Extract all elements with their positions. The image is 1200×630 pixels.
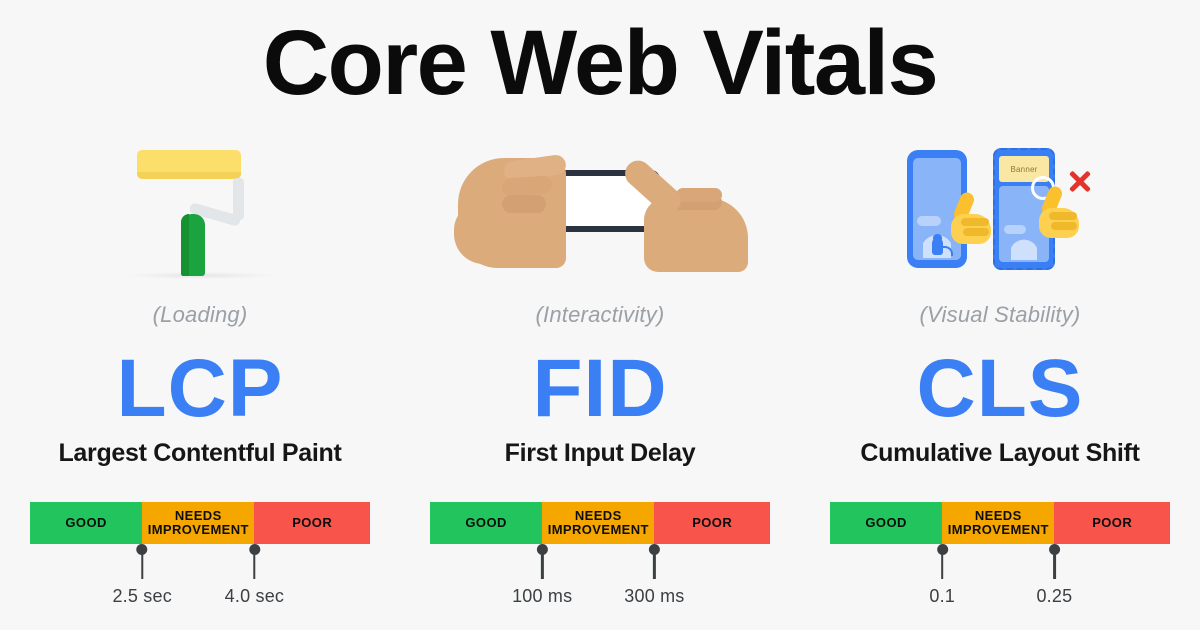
threshold-label: 100 ms	[512, 586, 572, 607]
scale-bar: GOOD NEEDS IMPROVEMENT POOR	[430, 502, 770, 544]
metric-acronym: LCP	[117, 346, 284, 432]
scale-segment-needs-improvement: NEEDS IMPROVEMENT	[142, 502, 254, 544]
threshold-stem	[541, 553, 544, 579]
paint-roller-icon	[35, 128, 365, 288]
threshold-stem	[253, 553, 256, 579]
left-finger	[502, 195, 546, 213]
threshold-marker: 100 ms	[512, 544, 572, 607]
threshold-marker: 0.25	[1036, 544, 1072, 607]
threshold-label: 2.5 sec	[112, 586, 171, 607]
scale-segment-poor: POOR	[1054, 502, 1170, 544]
layout-shift-phones-icon: Banner	[835, 128, 1165, 288]
core-web-vitals-infographic: Core Web Vitals (Loading) LCP Largest Co…	[0, 0, 1200, 630]
threshold-scale-fid: GOOD NEEDS IMPROVEMENT POOR 100 ms 300 m…	[430, 502, 770, 610]
right-knuckle	[676, 188, 722, 202]
hand-knuckle	[1049, 212, 1077, 220]
roller-arm	[233, 178, 244, 220]
scale-bar: GOOD NEEDS IMPROVEMENT POOR	[30, 502, 370, 544]
threshold-marker: 300 ms	[624, 544, 684, 607]
hand-knuckle	[963, 228, 989, 236]
threshold-label: 4.0 sec	[225, 586, 284, 607]
scale-segment-needs-improvement: NEEDS IMPROVEMENT	[542, 502, 654, 544]
metric-acronym: CLS	[917, 346, 1084, 432]
metric-sublabel: (Visual Stability)	[920, 302, 1081, 328]
metric-acronym: FID	[532, 346, 667, 432]
threshold-label: 0.1	[929, 586, 955, 607]
scale-ticks: 0.1 0.25	[830, 544, 1170, 610]
roller-head-shade	[137, 172, 241, 179]
scale-segment-good: GOOD	[430, 502, 542, 544]
scale-segment-poor: POOR	[254, 502, 370, 544]
red-x-icon	[1067, 168, 1093, 194]
cat-head	[933, 234, 942, 242]
roller-grip-highlight	[181, 214, 189, 276]
hands-tapping-phone-icon	[435, 128, 765, 288]
threshold-stem	[1053, 553, 1056, 579]
metric-card-fid: (Interactivity) FID First Input Delay GO…	[400, 128, 800, 628]
threshold-stem	[141, 553, 144, 579]
hand-knuckle	[961, 218, 989, 226]
cat-scene	[1011, 230, 1037, 260]
scale-segment-good: GOOD	[830, 502, 942, 544]
metric-full-name: Largest Contentful Paint	[58, 438, 341, 468]
threshold-scale-cls: GOOD NEEDS IMPROVEMENT POOR 0.1 0.25	[830, 502, 1170, 610]
metric-full-name: First Input Delay	[505, 438, 696, 468]
threshold-label: 0.25	[1036, 586, 1072, 607]
scale-ticks: 100 ms 300 ms	[430, 544, 770, 610]
metric-card-cls: Banner	[800, 128, 1200, 628]
scale-segment-needs-improvement: NEEDS IMPROVEMENT	[942, 502, 1054, 544]
page-title: Core Web Vitals	[0, 10, 1200, 116]
cat-tail	[943, 246, 953, 256]
threshold-label: 300 ms	[624, 586, 684, 607]
metric-sublabel: (Interactivity)	[536, 302, 665, 328]
scale-segment-good: GOOD	[30, 502, 142, 544]
metrics-row: (Loading) LCP Largest Contentful Paint G…	[0, 128, 1200, 628]
threshold-stem	[941, 553, 944, 579]
metric-full-name: Cumulative Layout Shift	[860, 438, 1139, 468]
metric-sublabel: (Loading)	[153, 302, 248, 328]
scale-segment-poor: POOR	[654, 502, 770, 544]
threshold-marker: 4.0 sec	[225, 544, 284, 607]
left-finger	[502, 214, 548, 234]
left-finger	[501, 175, 552, 196]
hand-knuckle	[1051, 222, 1077, 230]
metric-card-lcp: (Loading) LCP Largest Contentful Paint G…	[0, 128, 400, 628]
threshold-marker: 0.1	[929, 544, 955, 607]
scale-bar: GOOD NEEDS IMPROVEMENT POOR	[830, 502, 1170, 544]
scale-ticks: 2.5 sec 4.0 sec	[30, 544, 370, 610]
threshold-stem	[653, 553, 656, 579]
threshold-marker: 2.5 sec	[112, 544, 171, 607]
threshold-scale-lcp: GOOD NEEDS IMPROVEMENT POOR 2.5 sec 4.0 …	[30, 502, 370, 610]
pointing-hand-icon	[949, 192, 993, 244]
